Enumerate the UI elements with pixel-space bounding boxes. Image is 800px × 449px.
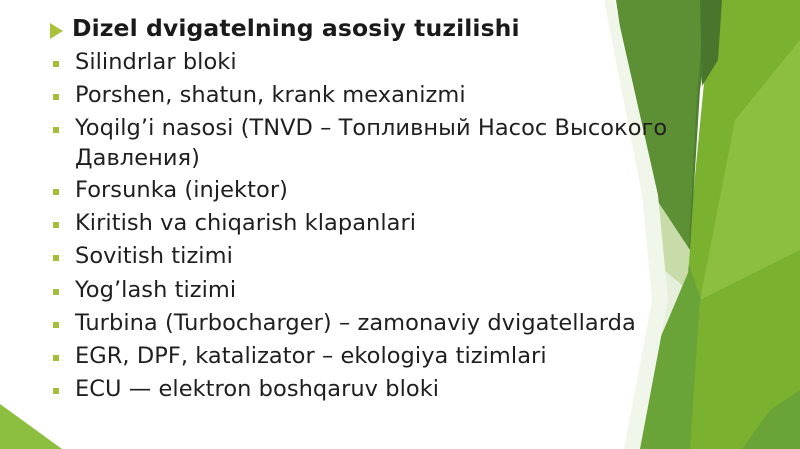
- square-bullet-icon: [53, 322, 59, 328]
- list-item-label: EGR, DPF, katalizator – ekologiya tiziml…: [75, 342, 547, 371]
- list-item: ECU — elektron boshqaruv bloki: [0, 375, 800, 404]
- list-item: EGR, DPF, katalizator – ekologiya tiziml…: [0, 342, 800, 371]
- list-item: Sovitish tizimi: [0, 242, 800, 271]
- triangle-bullet-icon: [50, 23, 63, 39]
- square-bullet-icon: [53, 289, 59, 295]
- list-item-label: Porshen, shatun, krank mexanizmi: [75, 81, 466, 110]
- list-item-label: Kiritish va chiqarish klapanlari: [75, 209, 416, 238]
- square-bullet-icon: [53, 255, 59, 261]
- page-title: Dizel dvigatelning asosiy tuzilishi: [72, 14, 520, 44]
- list-item-label: Yog’lash tizimi: [75, 276, 236, 305]
- square-bullet-icon: [53, 222, 59, 228]
- list-item: Turbina (Turbocharger) – zamonaviy dviga…: [0, 309, 800, 338]
- list-item: Yog’lash tizimi: [0, 276, 800, 305]
- square-bullet-icon: [53, 355, 59, 361]
- slide-canvas: Dizel dvigatelning asosiy tuzilishi Sili…: [0, 0, 800, 449]
- square-bullet-icon: [53, 189, 59, 195]
- square-bullet-icon: [53, 61, 59, 67]
- slide-content: Dizel dvigatelning asosiy tuzilishi Sili…: [0, 0, 800, 449]
- list-item-label: Sovitish tizimi: [75, 242, 233, 271]
- list-item-label: Silindrlar bloki: [75, 48, 237, 77]
- list-item: Forsunka (injektor): [0, 176, 800, 205]
- square-bullet-icon: [53, 127, 59, 133]
- list-item-label: Forsunka (injektor): [75, 176, 288, 205]
- list-item-label: ECU — elektron boshqaruv bloki: [75, 375, 439, 404]
- list-item: Silindrlar bloki: [0, 48, 800, 77]
- list-item: Kiritish va chiqarish klapanlari: [0, 209, 800, 238]
- list-item-label: Yoqilg’i nasosi (TNVD – Топливный Насос …: [75, 114, 675, 173]
- list-item: Yoqilg’i nasosi (TNVD – Топливный Насос …: [0, 114, 800, 173]
- list-item: Porshen, shatun, krank mexanizmi: [0, 81, 800, 110]
- list-item-label: Turbina (Turbocharger) – zamonaviy dviga…: [75, 309, 636, 338]
- heading-row: Dizel dvigatelning asosiy tuzilishi: [0, 14, 800, 44]
- square-bullet-icon: [53, 94, 59, 100]
- square-bullet-icon: [53, 388, 59, 394]
